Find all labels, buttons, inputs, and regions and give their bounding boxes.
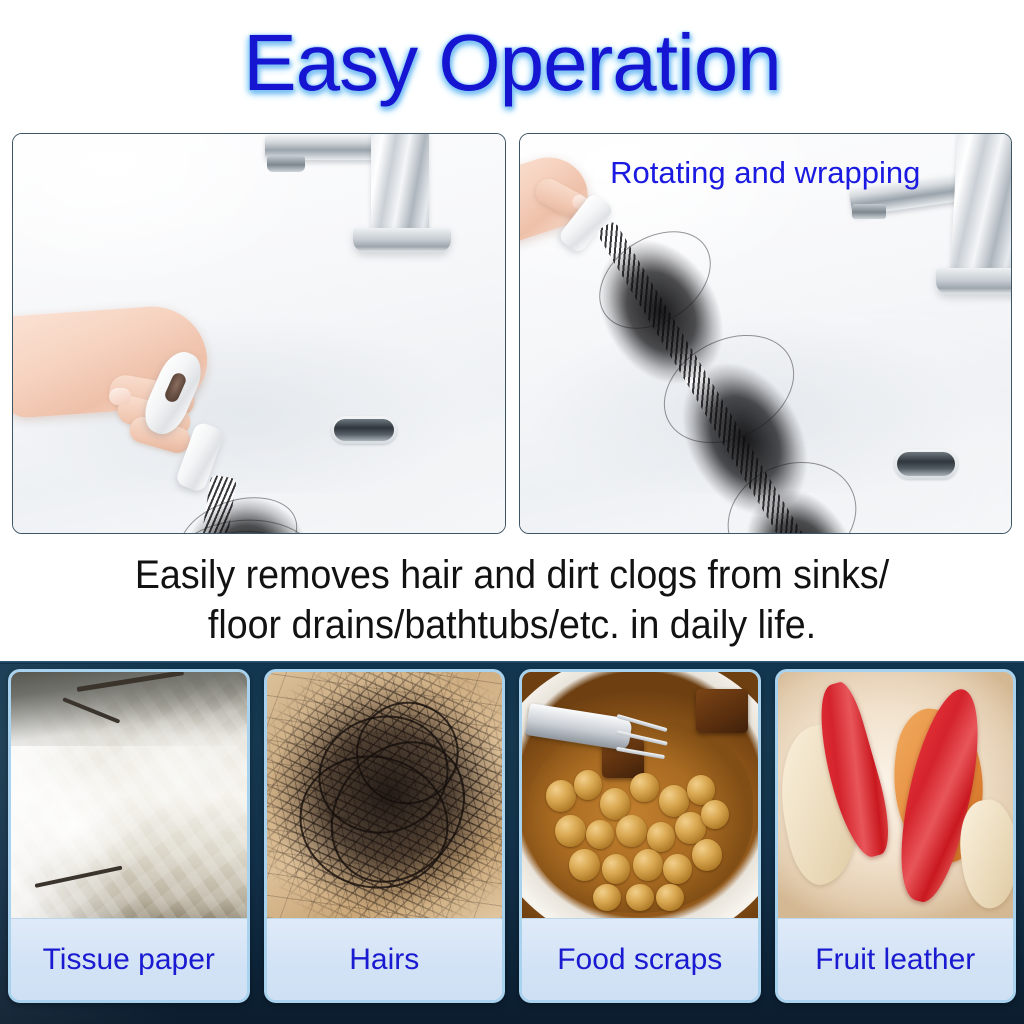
chickpea xyxy=(616,815,647,847)
chickpea xyxy=(692,839,723,871)
use-case-card-hairs[interactable]: Hairs xyxy=(264,669,506,1003)
faucet-left xyxy=(261,133,461,252)
overflow-slot-right xyxy=(894,449,958,479)
product-infographic: Easy Operation xyxy=(0,0,1024,1024)
chickpea xyxy=(555,815,586,847)
chickpea xyxy=(569,849,600,881)
chickpea xyxy=(546,780,577,812)
chickpea xyxy=(626,884,654,911)
chickpea xyxy=(647,822,675,852)
card-photo-food-scraps xyxy=(522,672,758,919)
chickpea xyxy=(593,884,621,911)
chickpea xyxy=(586,820,614,850)
demo-panels: Rotating and wrapping xyxy=(12,133,1012,534)
use-case-card-tissue-paper[interactable]: Tissue paper xyxy=(8,669,250,1003)
card-photo-hairs xyxy=(267,672,503,919)
panel-caption-rotating: Rotating and wrapping xyxy=(520,156,1012,190)
chickpea xyxy=(602,854,630,884)
card-photo-tissue-paper xyxy=(11,672,247,919)
use-case-card-food-scraps[interactable]: Food scraps xyxy=(519,669,761,1003)
chickpea xyxy=(630,773,658,803)
title-area: Easy Operation xyxy=(0,18,1024,108)
card-label-food-scraps: Food scraps xyxy=(522,919,758,1000)
fingernail xyxy=(109,388,131,405)
demo-panel-extract: Rotating and wrapping xyxy=(519,133,1013,534)
page-title: Easy Operation xyxy=(243,18,780,108)
card-label-tissue-paper: Tissue paper xyxy=(11,919,247,1000)
use-case-cards: Tissue paper Hairs xyxy=(8,669,1016,1003)
description-line-1: Easily removes hair and dirt clogs from … xyxy=(31,550,994,600)
meat-piece xyxy=(696,689,748,733)
description-line-2: floor drains/bathtubs/etc. in daily life… xyxy=(31,600,994,650)
card-photo-fruit-leather xyxy=(778,672,1014,919)
chickpea xyxy=(633,849,664,881)
product-description: Easily removes hair and dirt clogs from … xyxy=(31,550,994,650)
use-cases-strip: Tissue paper Hairs xyxy=(0,661,1024,1024)
card-label-hairs: Hairs xyxy=(267,919,503,1000)
use-case-card-fruit-leather[interactable]: Fruit leather xyxy=(775,669,1017,1003)
chickpea xyxy=(656,884,684,911)
chickpea xyxy=(663,854,691,884)
card-label-fruit-leather: Fruit leather xyxy=(778,919,1014,1000)
demo-panel-insert xyxy=(12,133,506,534)
chickpea xyxy=(574,770,602,800)
overflow-slot-left xyxy=(331,416,397,444)
